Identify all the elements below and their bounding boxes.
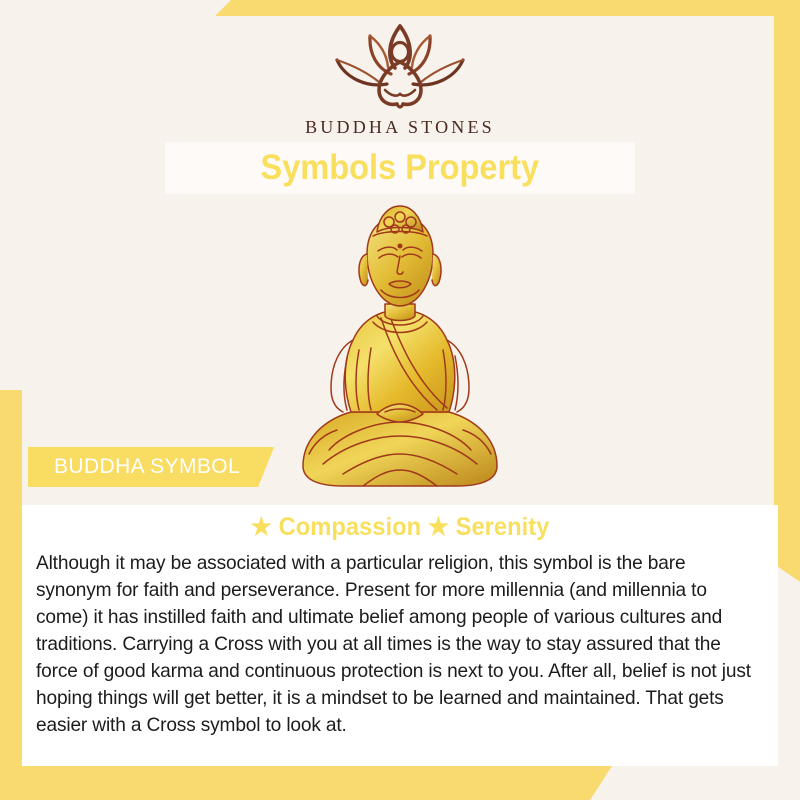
brand-wordmark: BUDDHA STONES (0, 117, 800, 138)
poster-root: BUDDHA STONES Symbols Property (0, 0, 800, 800)
subtitle-word-compassion: Compassion (279, 513, 422, 541)
content-paragraph: Although it may be associated with a par… (36, 550, 753, 739)
page-title: Symbols Property (261, 148, 540, 188)
section-banner-label: BUDDHA SYMBOL (54, 455, 240, 479)
decor-top-right-bar (215, 0, 800, 16)
title-band: Symbols Property (165, 142, 635, 194)
star-icon-2: ★ (428, 513, 449, 541)
subtitle-word-serenity: Serenity (456, 513, 550, 541)
content-subtitle: ★ Compassion ★ Serenity (41, 513, 759, 542)
section-banner: BUDDHA SYMBOL (28, 447, 274, 487)
brand-logo: BUDDHA STONES (0, 18, 800, 138)
decor-bottom-bar (0, 766, 612, 800)
star-icon-1: ★ (251, 513, 272, 541)
lotus-meditation-figure-icon (0, 18, 800, 113)
content-card: ★ Compassion ★ Serenity Although it may … (22, 505, 778, 766)
